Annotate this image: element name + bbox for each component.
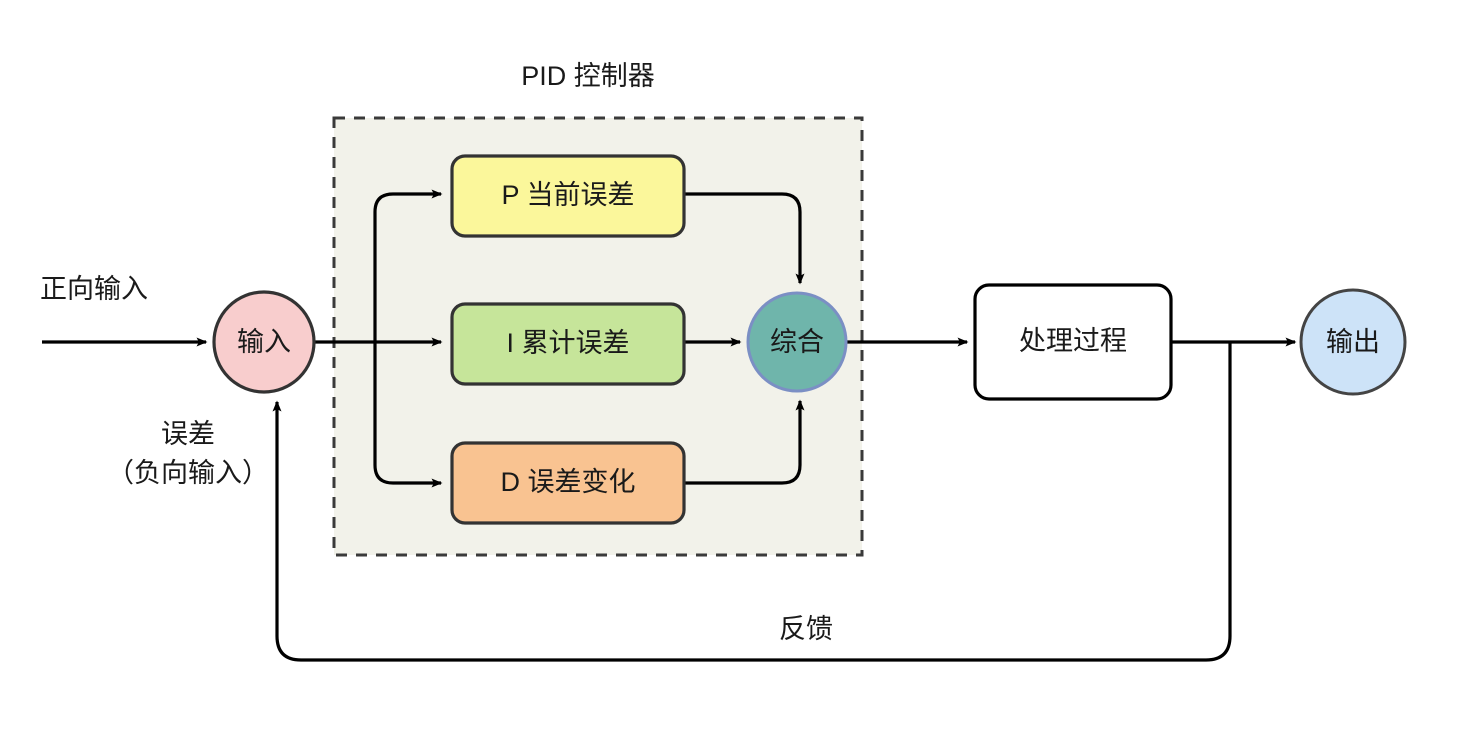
sum-label: 综合: [770, 327, 824, 357]
feedback-label: 反馈: [779, 614, 833, 644]
output-label: 输出: [1326, 327, 1380, 357]
output-node[interactable]: 输出: [1301, 290, 1405, 394]
i-term-node[interactable]: I 累计误差: [452, 304, 684, 384]
p-term-label: P 当前误差: [501, 180, 634, 210]
negative-input-label: （负向输入）: [107, 458, 269, 488]
process-node[interactable]: 处理过程: [975, 285, 1171, 399]
pid-group-title: PID 控制器: [521, 61, 655, 91]
process-label: 处理过程: [1019, 326, 1127, 356]
d-term-node[interactable]: D 误差变化: [452, 443, 684, 523]
pid-control-diagram: PID 控制器 P 当前误差 I 累计误差 D 误差变化: [0, 0, 1480, 750]
error-label: 误差: [161, 419, 215, 449]
d-term-label: D 误差变化: [501, 467, 636, 497]
diagram-canvas: PID 控制器 P 当前误差 I 累计误差 D 误差变化: [0, 0, 1480, 750]
input-node[interactable]: 输入: [214, 292, 314, 392]
p-term-node[interactable]: P 当前误差: [452, 156, 684, 236]
positive-input-label: 正向输入: [40, 274, 148, 304]
input-label: 输入: [237, 327, 291, 357]
i-term-label: I 累计误差: [506, 328, 629, 358]
sum-node[interactable]: 综合: [748, 293, 846, 391]
